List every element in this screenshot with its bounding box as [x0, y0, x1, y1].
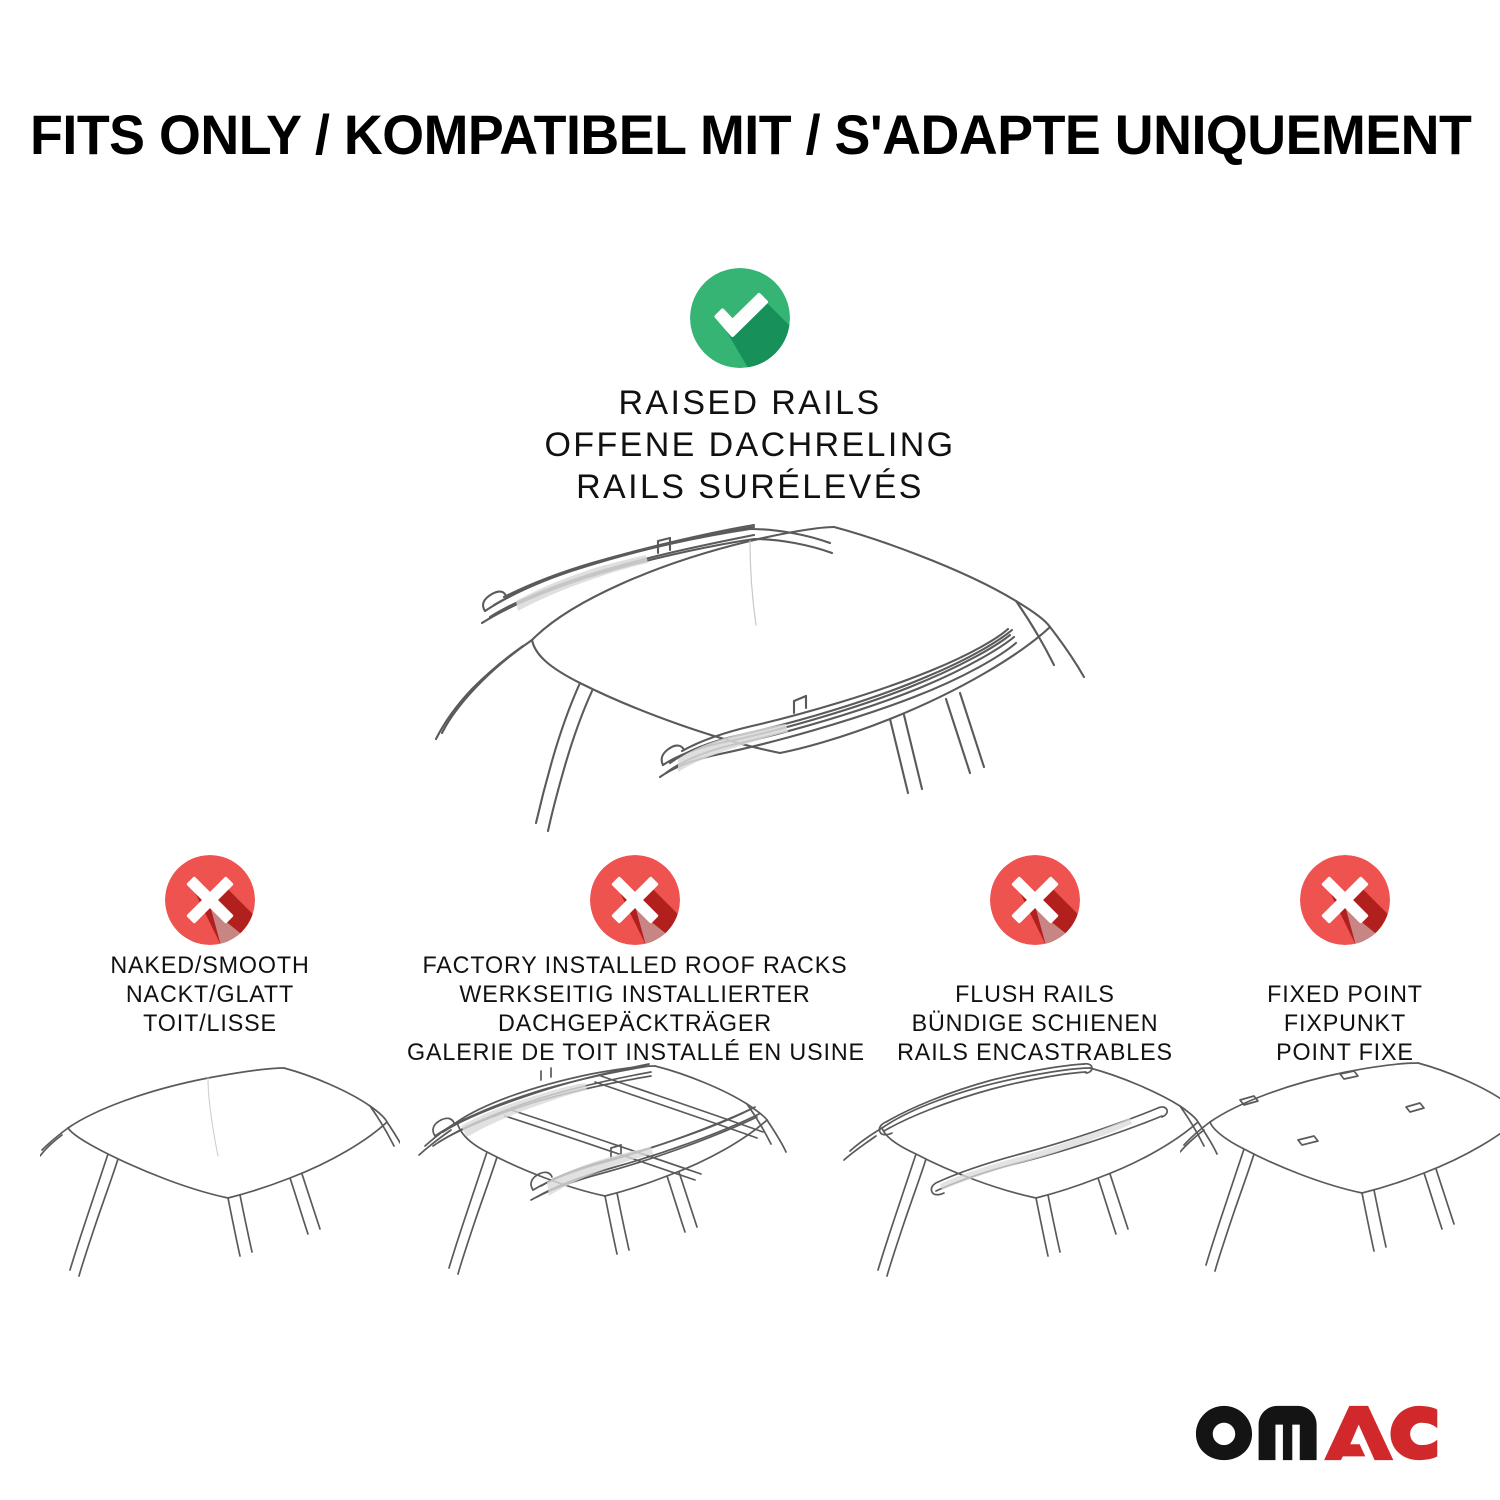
incompatible-label-group-fixed: FIXED POINT FIXPUNKT POINT FIXE: [1200, 980, 1490, 1067]
logo-letter-m: [1258, 1406, 1316, 1460]
label-line: DACHGEPÄCKTRÄGER: [407, 1009, 863, 1038]
incompatible-label-group-naked: NAKED/SMOOTH NACKT/GLATT TOIT/LISSE: [40, 951, 380, 1038]
label-line: FIXPUNKT: [1204, 1009, 1485, 1038]
label-line: NAKED/SMOOTH: [45, 951, 375, 980]
label-line: FLUSH RAILS: [880, 980, 1190, 1009]
label-line: NACKT/GLATT: [45, 980, 375, 1009]
car-roof-raised-rails-drawing: [420, 505, 1100, 835]
car-roof-fixed-point-drawing: [1180, 1060, 1500, 1280]
omac-logo: [1195, 1404, 1438, 1462]
compatible-label-group: RAISED RAILS OFFENE DACHRELING RAILS SUR…: [400, 382, 1100, 508]
red-cross-circle-icon: [990, 855, 1080, 945]
compatible-label-en: RAISED RAILS: [400, 382, 1100, 424]
label-line: FACTORY INSTALLED ROOF RACKS: [407, 951, 863, 980]
compatible-label-fr: RAILS SURÉLEVÉS: [400, 466, 1100, 508]
logo-letter-o: [1196, 1406, 1252, 1460]
logo-letter-c: [1390, 1406, 1437, 1460]
red-cross-circle-icon: [165, 855, 255, 945]
red-cross-circle-icon: [1300, 855, 1390, 945]
fitment-infographic: FITS ONLY / KOMPATIBEL MIT / S'ADAPTE UN…: [0, 0, 1500, 1500]
incompatible-label-group-flush: FLUSH RAILS BÜNDIGE SCHIENEN RAILS ENCAS…: [875, 980, 1195, 1067]
car-roof-factory-racks-drawing: [405, 1060, 795, 1280]
label-line: FIXED POINT: [1204, 980, 1485, 1009]
red-cross-circle-icon: [590, 855, 680, 945]
car-roof-flush-rails-drawing: [840, 1060, 1230, 1280]
green-check-circle-icon: [690, 268, 790, 368]
label-line: WERKSEITIG INSTALLIERTER: [407, 980, 863, 1009]
label-line: BÜNDIGE SCHIENEN: [880, 1009, 1190, 1038]
page-title: FITS ONLY / KOMPATIBEL MIT / S'ADAPTE UN…: [30, 104, 1470, 166]
label-line: TOIT/LISSE: [45, 1009, 375, 1038]
logo-letter-a: [1324, 1406, 1393, 1460]
incompatible-label-group-factory: FACTORY INSTALLED ROOF RACKS WERKSEITIG …: [400, 951, 870, 1067]
car-roof-naked-smooth-drawing: [40, 1060, 400, 1280]
compatible-label-de: OFFENE DACHRELING: [400, 424, 1100, 466]
